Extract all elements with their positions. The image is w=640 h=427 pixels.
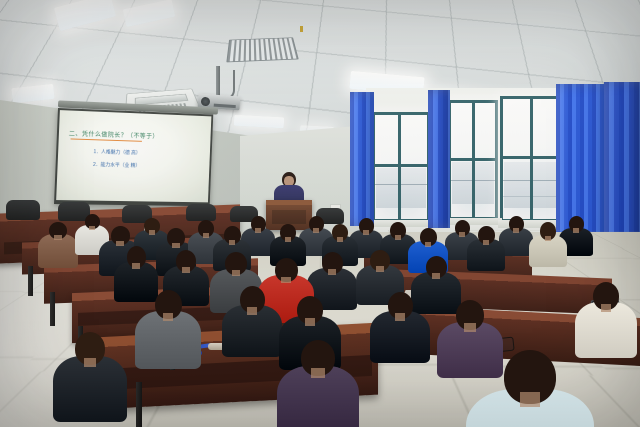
ceiling-hook <box>300 26 303 32</box>
attendee <box>135 290 201 377</box>
neck <box>311 368 325 378</box>
window-pane-right <box>500 96 564 222</box>
neck <box>132 263 140 269</box>
neck <box>573 228 579 232</box>
neck <box>182 267 190 273</box>
neck <box>363 230 369 234</box>
attendee <box>529 222 567 272</box>
neck <box>229 240 236 245</box>
attendee-foreground-glasses <box>466 350 594 427</box>
neck <box>285 237 291 242</box>
neck <box>545 236 551 241</box>
neck <box>395 313 405 321</box>
neck <box>313 228 319 232</box>
neck <box>149 230 155 234</box>
exec-chair-4[interactable] <box>186 204 216 221</box>
louver-light-fixture <box>226 37 298 62</box>
slide-bullet-2: 2．能力水平（业 精） <box>93 161 140 169</box>
curtain-middle[interactable] <box>428 90 450 228</box>
neck <box>281 277 290 284</box>
attendee <box>53 332 127 427</box>
attendee-purple <box>277 340 359 427</box>
neck <box>54 235 61 240</box>
neck <box>432 273 440 279</box>
neck <box>337 237 343 242</box>
screen-surface: 二、凭什么做院长？（不等于） 1．人格魅力（德 高） 2．能力水平（业 精） <box>56 110 211 202</box>
neck <box>520 392 541 407</box>
neck <box>172 243 179 248</box>
desk-leg <box>50 292 55 326</box>
attendee <box>370 292 430 371</box>
neck <box>459 232 465 236</box>
curtain-left[interactable] <box>350 92 374 226</box>
window-pane-left <box>372 112 430 222</box>
neck <box>84 358 96 367</box>
lecture-hall-photograph: 二、凭什么做院长？（不等于） 1．人格魅力（德 高） 2．能力水平（业 精） <box>0 0 640 427</box>
attendee <box>467 226 505 276</box>
neck <box>247 307 257 315</box>
neck <box>255 228 261 232</box>
neck <box>513 228 519 232</box>
neck <box>425 242 432 247</box>
slide-bullet-1: 1．人格魅力（德 高） <box>93 148 140 156</box>
neck <box>232 270 241 276</box>
neck <box>203 233 209 238</box>
desk-leg <box>28 266 33 296</box>
neck <box>89 226 95 230</box>
neck <box>395 235 401 240</box>
neck <box>376 266 384 272</box>
desk-leg <box>136 382 142 427</box>
attendee <box>222 286 282 365</box>
attendee <box>38 222 78 273</box>
neck <box>601 304 611 312</box>
neck <box>328 269 336 275</box>
neck <box>483 240 490 245</box>
neck <box>163 313 174 321</box>
projection-screen: 二、凭什么做院长？（不等于） 1．人格魅力（德 高） 2．能力水平（业 精） <box>54 108 213 206</box>
window-pane-center <box>448 100 498 220</box>
neck <box>464 323 475 331</box>
neck <box>305 318 315 326</box>
exec-chair-1[interactable] <box>6 200 40 220</box>
